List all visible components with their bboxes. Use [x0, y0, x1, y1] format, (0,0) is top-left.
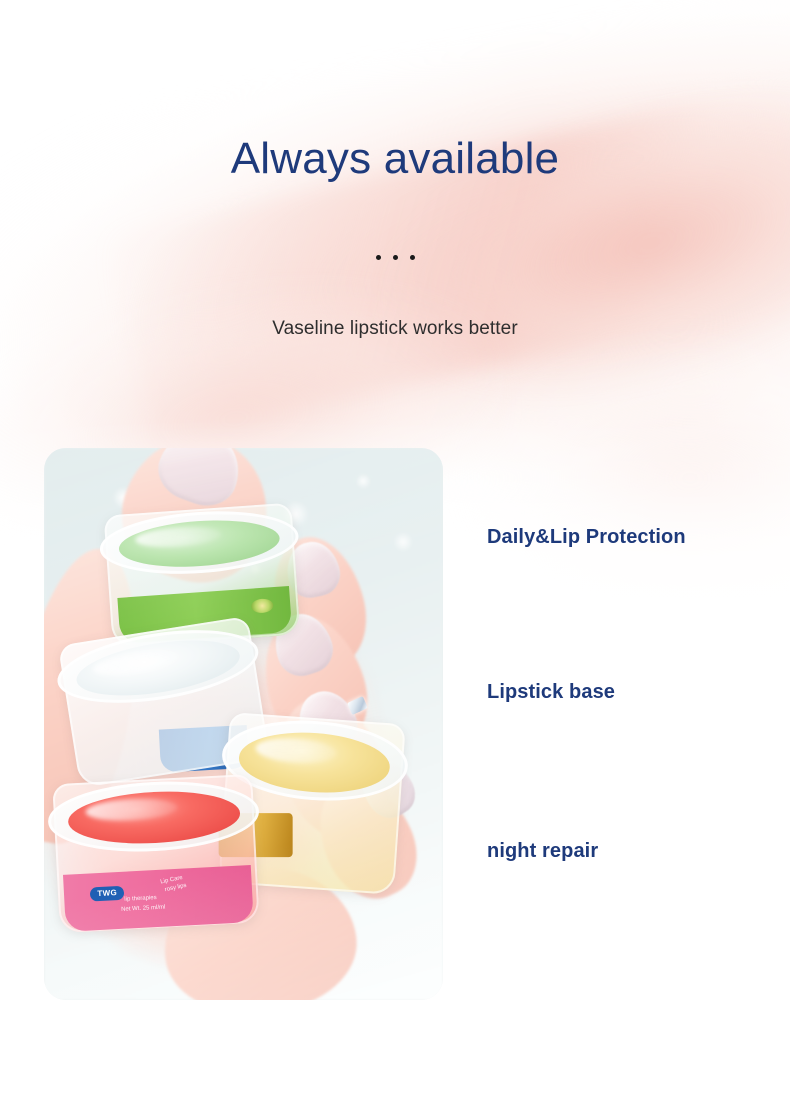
tub-label-line1: lip therapies: [124, 895, 157, 904]
twg-brand-logo: TWG: [90, 885, 125, 901]
wash-blob-mid-right: [430, 330, 790, 660]
feature-label-night-repair: night repair: [487, 840, 598, 863]
tub-label-line2: Net Wt. 25 ml/ml: [121, 905, 166, 915]
divider-dot-3: [410, 255, 415, 260]
divider-dot-1: [376, 255, 381, 260]
promo-page: Always available Vaseline lipstick works…: [0, 0, 790, 1101]
product-photo: TWG lip therapies Net Wt. 25 ml/ml Lip C…: [44, 448, 443, 1000]
rosy-tub-band: TWG lip therapies Net Wt. 25 ml/ml Lip C…: [63, 865, 253, 931]
rosy-red-tub: TWG lip therapies Net Wt. 25 ml/ml Lip C…: [52, 774, 259, 933]
wash-blob-upper-right: [268, 10, 790, 494]
avocado-icon: [250, 598, 273, 614]
product-photo-inner: TWG lip therapies Net Wt. 25 ml/ml Lip C…: [44, 448, 443, 1000]
page-subtitle: Vaseline lipstick works better: [0, 318, 790, 340]
page-title: Always available: [0, 135, 790, 183]
feature-label-lipstick-base: Lipstick base: [487, 681, 615, 704]
divider-dot-2: [393, 255, 398, 260]
dot-divider: [0, 255, 790, 260]
feature-label-daily-lip-protection: Daily&Lip Protection: [487, 526, 686, 549]
